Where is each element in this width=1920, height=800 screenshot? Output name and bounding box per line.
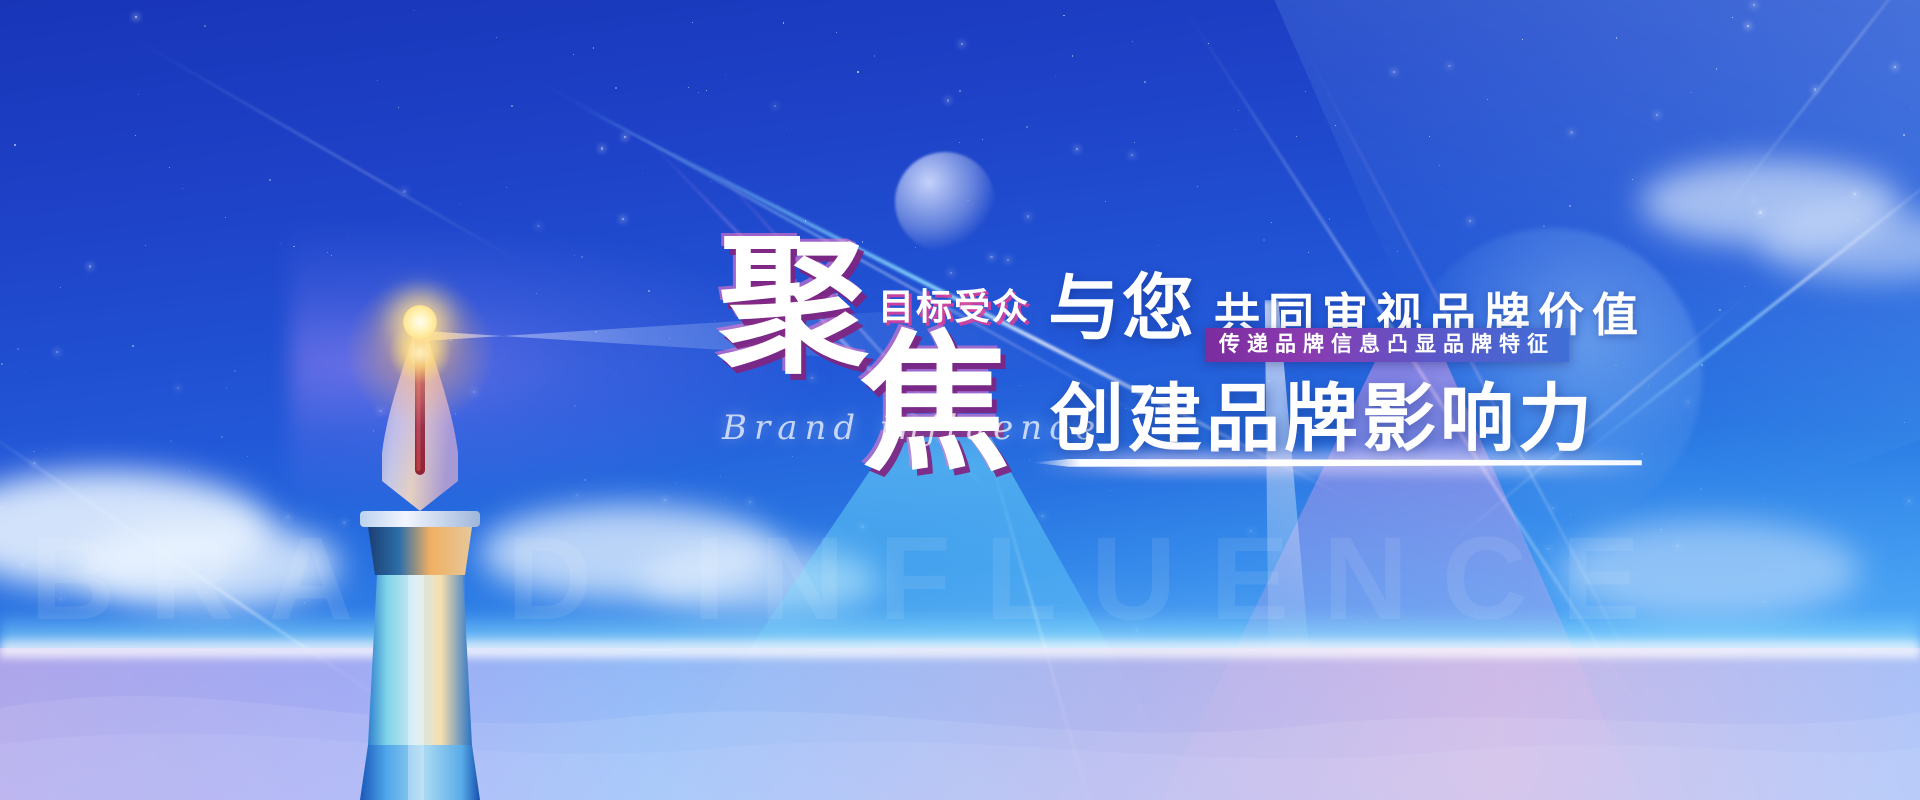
brand-influence-script: Brand influence [722, 408, 1102, 448]
background-watermark: BRAND INFLUENCE [30, 520, 1920, 638]
ground-plane [0, 648, 1920, 800]
headline-with-you: 与您 [1048, 272, 1196, 344]
white-beam-line [1010, 300, 1530, 800]
cloud-center-2 [640, 545, 880, 615]
cloud-right-top-2 [1760, 210, 1920, 280]
light-streak-12 [1699, 0, 1920, 242]
headline-char-ju: 聚 [718, 232, 870, 382]
headline-line-2: 创建品牌影响力 [1050, 382, 1596, 456]
target-audience-label: 目标受众 [878, 278, 1030, 330]
ground-wave [0, 648, 1920, 800]
horizon-glow [0, 610, 1920, 650]
cloud-left [0, 470, 270, 590]
cloud-right-top [1640, 160, 1900, 245]
cloud-right-bottom [1560, 520, 1860, 620]
headline-char-jiao: 焦 [860, 330, 1012, 480]
beacon-glow [335, 267, 505, 437]
cloud-center [480, 505, 780, 600]
lighthouse-pen-icon [330, 275, 510, 800]
beacon-core-light [403, 305, 437, 339]
cloud-left-2 [80, 520, 340, 610]
moon-icon [895, 152, 995, 252]
brand-banner: BRAND INFLUENCE [0, 0, 1920, 800]
status-badge: 传递品牌信息凸显品牌特征 [1205, 328, 1569, 362]
